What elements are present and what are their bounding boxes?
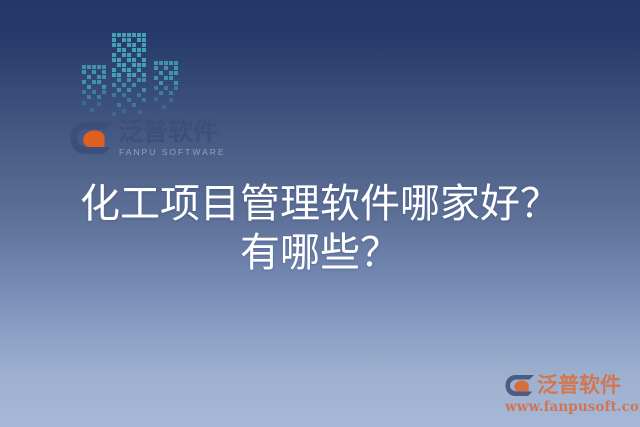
watermark-url: www.fanpusoft.com — [505, 399, 633, 415]
headline-line-2: 有哪些？ — [0, 229, 640, 278]
fanpu-logo-mark-icon — [70, 121, 114, 155]
watermark: 泛普软件 www.fanpusoft.com — [505, 372, 633, 415]
fanpu-watermark-mark-icon — [505, 374, 535, 397]
brand-name-en: FANPU SOFTWARE — [119, 146, 226, 158]
watermark-brand-name: 泛普软件 — [537, 374, 621, 397]
brand-logo: 泛普软件 FANPU SOFTWARE — [70, 116, 226, 160]
promo-banner: 泛普软件 FANPU SOFTWARE 化工项目管理软件哪家好？ 有哪些？ 泛普… — [0, 0, 640, 427]
headline: 化工项目管理软件哪家好？ 有哪些？ — [0, 180, 640, 278]
headline-line-1: 化工项目管理软件哪家好？ — [0, 180, 640, 229]
brand-name-cn: 泛普软件 — [118, 119, 226, 145]
watermark-logo: 泛普软件 — [505, 372, 633, 398]
pixel-city-skyline-graphic — [78, 24, 194, 120]
